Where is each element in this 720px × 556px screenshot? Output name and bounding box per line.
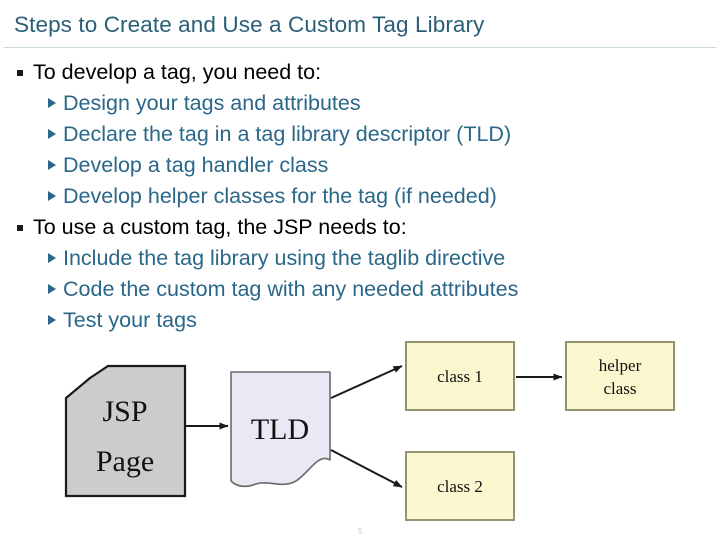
list-item-label: Design your tags and attributes xyxy=(46,88,361,119)
slide: Steps to Create and Use a Custom Tag Lib… xyxy=(0,0,720,556)
list-item: To use a custom tag, the JSP needs to: xyxy=(0,212,720,243)
list-item-label: Declare the tag in a tag library descrip… xyxy=(46,119,511,150)
list-item-label: Code the custom tag with any needed attr… xyxy=(46,274,518,305)
list-item-label: Develop helper classes for the tag (if n… xyxy=(46,181,497,212)
triangle-bullet-icon xyxy=(48,253,56,263)
node-label: helper xyxy=(599,356,642,375)
triangle-bullet-icon xyxy=(48,98,56,108)
node-helper-class: helper class xyxy=(566,342,674,410)
edge-tld-to-class1 xyxy=(331,366,402,398)
list-item: Declare the tag in a tag library descrip… xyxy=(0,119,720,150)
slide-page-number: 5 xyxy=(0,527,720,536)
triangle-bullet-icon xyxy=(48,315,56,325)
square-bullet-icon xyxy=(17,225,23,231)
triangle-bullet-icon xyxy=(48,284,56,294)
list-item-label: To develop a tag, you need to: xyxy=(16,57,321,88)
list-item: To develop a tag, you need to: xyxy=(0,57,720,88)
node-label: JSP xyxy=(102,395,147,428)
node-tld: TLD xyxy=(231,372,330,486)
triangle-bullet-icon xyxy=(48,160,56,170)
node-label: TLD xyxy=(251,413,309,446)
list-item: Design your tags and attributes xyxy=(0,88,720,119)
list-item: Test your tags xyxy=(0,305,720,336)
triangle-bullet-icon xyxy=(48,129,56,139)
node-class-1: class 1 xyxy=(406,342,514,410)
node-class-2: class 2 xyxy=(406,452,514,520)
list-item: Include the tag library using the taglib… xyxy=(0,243,720,274)
list-item: Develop helper classes for the tag (if n… xyxy=(0,181,720,212)
node-jsp-page: JSP Page xyxy=(66,366,185,496)
node-label: class 1 xyxy=(437,367,483,386)
title-divider xyxy=(4,47,716,48)
square-bullet-icon xyxy=(17,70,23,76)
node-label: class xyxy=(603,379,636,398)
bullet-list: To develop a tag, you need to: Design yo… xyxy=(0,57,720,336)
list-item-label: Include the tag library using the taglib… xyxy=(46,243,505,274)
triangle-bullet-icon xyxy=(48,191,56,201)
list-item-label: Develop a tag handler class xyxy=(46,150,328,181)
page-title: Steps to Create and Use a Custom Tag Lib… xyxy=(14,11,484,39)
node-label: class 2 xyxy=(437,477,483,496)
list-item-label: Test your tags xyxy=(46,305,197,336)
edge-tld-to-class2 xyxy=(331,450,402,487)
list-item: Develop a tag handler class xyxy=(0,150,720,181)
list-item-label: To use a custom tag, the JSP needs to: xyxy=(16,212,407,243)
node-label: Page xyxy=(96,445,154,478)
list-item: Code the custom tag with any needed attr… xyxy=(0,274,720,305)
